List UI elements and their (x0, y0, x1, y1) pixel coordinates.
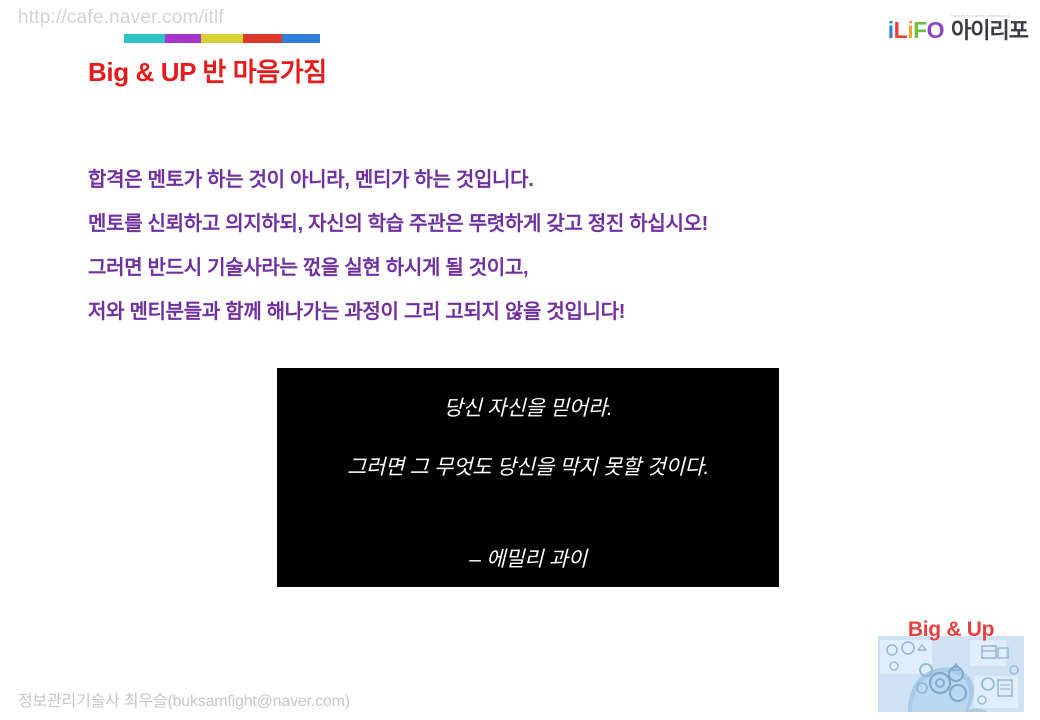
brain-illustration-svg (878, 636, 1024, 712)
brand-graphic: Big & Up (872, 618, 1030, 716)
source-url-text: http://cafe.naver.com/itlf (18, 7, 224, 29)
body-line-4: 저와 멘티분들과 함께 해나가는 과정이 그리 고되지 않을 것입니다! (88, 290, 968, 334)
logo-korean-name: 아이리포 (951, 20, 1028, 42)
body-line-3: 그러면 반드시 기술사라는 꺿을 실현 하시게 될 것이고, (88, 246, 968, 290)
footer-credit: 정보관리기술사 최우슬(buksamfight@naver.com) (18, 687, 350, 711)
slide-title: Big & UP 반 마음가짐 (88, 52, 327, 89)
quote-line-2: 그러면 그 무엇도 당신을 막지 못할 것이다. (347, 451, 709, 481)
logo-korean-block: Fantastic career community 아이리포 (951, 14, 1028, 42)
brain-idea-illustration (878, 636, 1024, 712)
logo-letter-L: L (894, 19, 908, 42)
ilifo-logo: iLiFO Fantastic career community 아이리포 (888, 12, 1028, 42)
body-text-block: 합격은 멘토가 하는 것이 아니라, 멘티가 하는 것입니다. 멘토를 신뢰하고… (88, 158, 968, 334)
body-line-2: 멘토를 신뢰하고 의지하되, 자신의 학습 주관은 뚜렷하게 갖고 정진 하십시… (88, 202, 968, 246)
decorative-color-bar (124, 34, 320, 43)
quote-box: 당신 자신을 믿어라. 그러면 그 무엇도 당신을 막지 못할 것이다. – 에… (277, 368, 779, 587)
logo-letter-O: O (927, 19, 944, 42)
color-bar-segment-yellow (201, 34, 243, 43)
logo-wordmark: iLiFO (888, 19, 944, 42)
color-bar-segment-teal (124, 34, 165, 43)
brand-graphic-label: Big & Up (872, 618, 1030, 642)
color-bar-segment-red (243, 34, 282, 43)
body-line-1: 합격은 멘토가 하는 것이 아니라, 멘티가 하는 것입니다. (88, 158, 968, 202)
color-bar-segment-purple (165, 34, 201, 43)
color-bar-segment-blue (282, 34, 320, 43)
quote-line-1: 당신 자신을 믿어라. (444, 392, 613, 422)
logo-letter-F: F (913, 19, 927, 42)
quote-attribution: – 에밀리 과이 (469, 543, 587, 573)
